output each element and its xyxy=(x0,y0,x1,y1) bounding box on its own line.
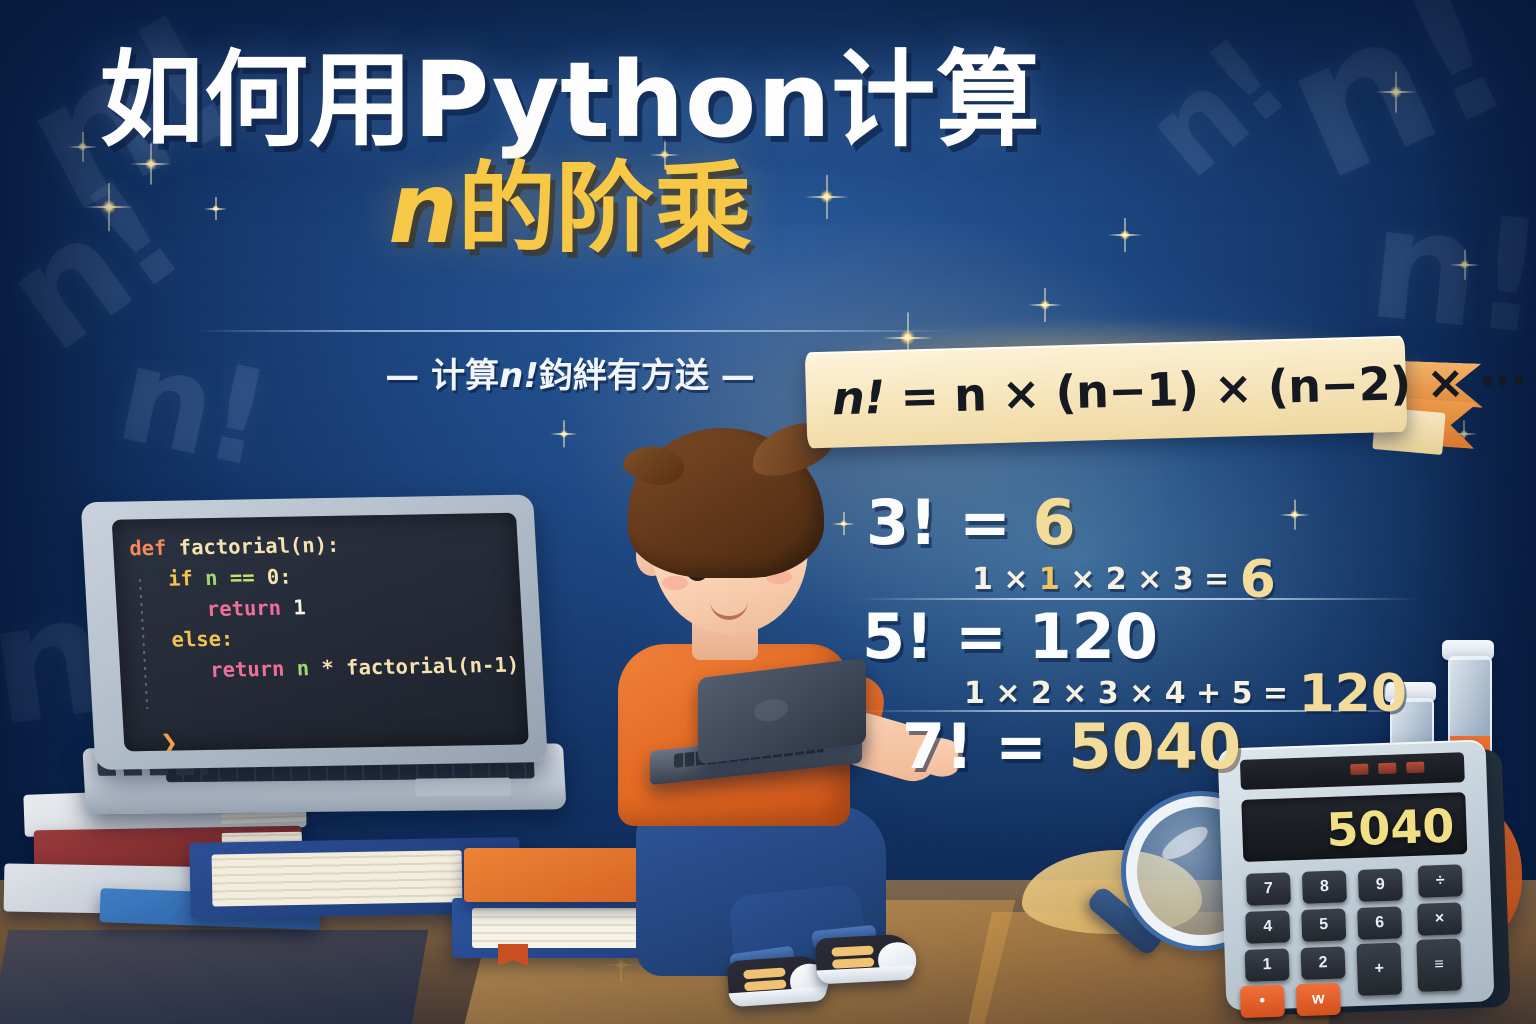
code-return-keyword-2: return xyxy=(210,656,298,681)
example-7-rhs: 5040 xyxy=(1069,710,1242,783)
example-3-detail-hl: 1 xyxy=(1039,562,1060,597)
solar-cell xyxy=(1350,764,1368,776)
example-5-headline: 5! = 120 xyxy=(862,606,1407,668)
sparkle xyxy=(1290,510,1299,519)
tagline-part2: 鈞絆有方送 xyxy=(539,356,709,396)
floor-tile-dark xyxy=(0,930,428,1024)
calc-key-7[interactable]: 7 xyxy=(1246,872,1291,906)
example-row-3: 3! = 6 1 × 1 × 2 × 3 = 6 xyxy=(866,492,1276,610)
calc-key-clear[interactable]: • xyxy=(1240,985,1285,1019)
boy-shoe-left xyxy=(727,955,828,1008)
laptop-trackpad[interactable] xyxy=(415,778,512,797)
calc-key-6[interactable]: 6 xyxy=(1357,906,1402,940)
formula-banner: n! = n × (n−1) × (n−2) × ⋯ × 1 xyxy=(806,338,1438,448)
shoe-sole xyxy=(817,965,916,984)
calc-key-2[interactable]: 2 xyxy=(1301,946,1346,980)
example-row-7: 7! = 5040 xyxy=(902,716,1241,778)
boy-laptop xyxy=(650,668,870,796)
shoe-strap xyxy=(743,967,786,979)
example-row-5: 5! = 120 1 × 2 × 3 × 4 + 5 = 120 xyxy=(862,606,1407,724)
code-recursive-call: * factorial(n-1) xyxy=(321,653,520,680)
calc-key-multiply[interactable]: × xyxy=(1417,902,1462,936)
code-var-n: n xyxy=(204,565,230,589)
example-3-detail-a: 1 × xyxy=(972,562,1039,597)
calc-key-plus[interactable]: + xyxy=(1356,942,1402,996)
book-blue-pages xyxy=(212,850,463,906)
shoe-strap xyxy=(831,946,873,957)
laptop-lid: def factorial(n): if n == 0: return 1 el… xyxy=(81,494,548,769)
code-var-n-2: n xyxy=(296,656,322,680)
example-3-rhs: 6 xyxy=(1033,486,1076,559)
poster-title-block: 如何用Python计算 n的阶乘 xyxy=(0,46,1140,260)
calculator-display-value: 5040 xyxy=(1325,799,1455,857)
code-return-keyword-1: return xyxy=(206,595,294,620)
calc-key-divide[interactable]: ÷ xyxy=(1418,864,1463,898)
tagline-variable: n! xyxy=(499,356,539,396)
code-function-signature: factorial(n): xyxy=(178,533,340,560)
subtitle-rest: 的阶乘 xyxy=(458,152,752,266)
watermark-n-factorial-5: n! xyxy=(1254,0,1533,223)
code-operator-eq: == xyxy=(229,565,267,590)
example-3-lhs: 3! = xyxy=(866,486,1033,559)
watermark-n-factorial-3: n! xyxy=(106,317,279,497)
formula-n-factorial: n! xyxy=(831,370,885,425)
example-5-detail-a: 1 × 2 × 3 × 4 + 5 = xyxy=(964,676,1299,711)
example-7-headline: 7! = 5040 xyxy=(902,716,1241,778)
tagline-dash-left: — xyxy=(385,356,419,396)
calc-key-8[interactable]: 8 xyxy=(1302,870,1347,904)
poster-canvas: n! n! n! n! n! n! n! 如何用Python计算 n的阶乘 — … xyxy=(0,0,1536,1024)
calculator: 5040 7 8 9 ÷ 4 5 6 × 1 2 + ≡ • w xyxy=(1218,739,1495,1010)
laptop: def factorial(n): if n == 0: return 1 el… xyxy=(69,485,567,841)
code-block: def factorial(n): if n == 0: return 1 el… xyxy=(128,527,519,687)
solar-cell xyxy=(1378,763,1396,775)
code-return-one: 1 xyxy=(293,595,307,619)
laptop-screen: def factorial(n): if n == 0: return 1 el… xyxy=(112,513,529,752)
subtitle-variable: n xyxy=(388,152,458,266)
page-subtitle: n的阶乘 xyxy=(0,160,1140,260)
calc-key-function[interactable]: w xyxy=(1296,983,1341,1017)
boy-shoe-right xyxy=(815,933,915,984)
calc-key-4[interactable]: 4 xyxy=(1245,910,1290,944)
example-3-detail-b: × 2 × 3 = xyxy=(1060,562,1240,597)
code-if-keyword: if xyxy=(167,566,205,591)
solar-cell xyxy=(1406,762,1424,774)
code-def-keyword: def xyxy=(129,536,180,561)
code-zero: 0: xyxy=(266,564,292,588)
page-title: 如何用Python计算 xyxy=(0,46,1140,154)
example-5-rhs: 120 xyxy=(1029,600,1158,673)
calc-key-equals[interactable]: ≡ xyxy=(1416,938,1462,992)
sparkle xyxy=(1390,86,1402,98)
calc-key-1[interactable]: 1 xyxy=(1245,948,1290,982)
tagline-part1: 计算 xyxy=(431,356,499,396)
tagline-dash-right: — xyxy=(721,356,755,396)
example-7-lhs: 7! = xyxy=(902,710,1069,783)
example-3-detail-result: 6 xyxy=(1240,550,1276,610)
sparkle xyxy=(1460,260,1469,269)
example-3-headline: 3! = 6 xyxy=(866,492,1276,554)
code-cursor-icon: ❯ xyxy=(160,730,179,751)
example-5-detail-result: 120 xyxy=(1299,664,1408,724)
calc-key-5[interactable]: 5 xyxy=(1301,908,1346,942)
example-5-lhs: 5! = xyxy=(862,600,1029,673)
sparkle xyxy=(1040,300,1050,310)
calculator-display: 5040 xyxy=(1241,792,1467,862)
code-else-keyword: else: xyxy=(171,627,234,652)
boy-cheek-left xyxy=(662,576,688,590)
calc-key-9[interactable]: 9 xyxy=(1358,868,1403,902)
sparkle xyxy=(560,430,568,438)
watermark-n-factorial-7: n! xyxy=(1121,14,1310,204)
